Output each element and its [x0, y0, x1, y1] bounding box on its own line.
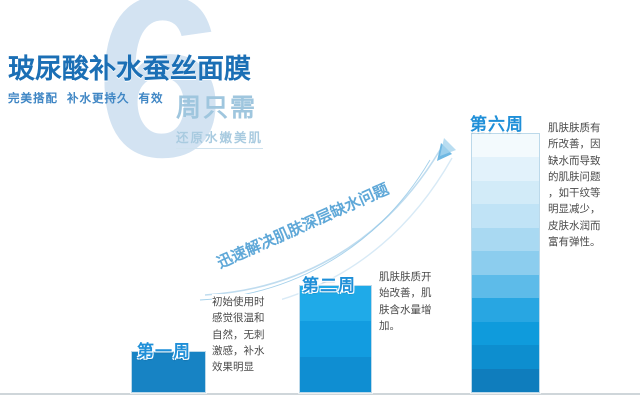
bar-note-1: 初始使用时 感觉很温和 自然，无刺 激感，补水 效果明显	[212, 294, 282, 375]
bar-3	[471, 133, 540, 393]
bar-3-segment-3	[472, 181, 539, 204]
bar-3-segment-10	[472, 345, 539, 368]
headline-sub-item-1: 补水更持久	[67, 91, 130, 105]
bar-2-segment-3	[300, 357, 371, 392]
bar-label-3: 第六周	[470, 110, 524, 135]
bar-note-2: 肌肤肤质开 始改善，肌 肤含水量增 加。	[379, 269, 449, 334]
headline-block: 玻尿酸补水蚕丝面膜 完美搭配补水更持久有效	[8, 55, 251, 106]
headline-sub-item-2: 有效	[139, 91, 164, 105]
bar-3-segment-4	[472, 204, 539, 227]
bar-3-segment-1	[472, 134, 539, 157]
bar-3-segment-11	[472, 369, 539, 392]
bar-2-segment-2	[300, 321, 371, 356]
infographic-canvas: 6 玻尿酸补水蚕丝面膜 完美搭配补水更持久有效 周只需 还原水嫩美肌 迅速解决肌…	[0, 0, 640, 405]
bar-note-3: 肌肤肤质有 所改善，因 缺水而导致 的肌肤问题 ，如干纹等 明显减少， 皮肤水润…	[548, 120, 624, 250]
bar-3-segment-2	[472, 157, 539, 180]
bar-3-segment-6	[472, 251, 539, 274]
pale-tagline-sub: 还原水嫩美肌	[176, 127, 263, 149]
headline-title: 玻尿酸补水蚕丝面膜	[8, 55, 251, 85]
chart-baseline	[0, 393, 640, 395]
bar-3-segment-9	[472, 322, 539, 345]
headline-sub-item-0: 完美搭配	[8, 91, 58, 105]
headline-subtitle: 完美搭配补水更持久有效	[8, 90, 251, 106]
curve-annotation: 迅速解决肌肤深层缺水问题	[213, 177, 392, 273]
bar-3-segment-8	[472, 298, 539, 321]
bar-label-2: 第二周	[302, 271, 356, 296]
bar-label-1: 第一周	[137, 337, 191, 362]
bar-2	[299, 285, 372, 393]
bar-3-segment-5	[472, 228, 539, 251]
bar-3-segment-7	[472, 275, 539, 298]
